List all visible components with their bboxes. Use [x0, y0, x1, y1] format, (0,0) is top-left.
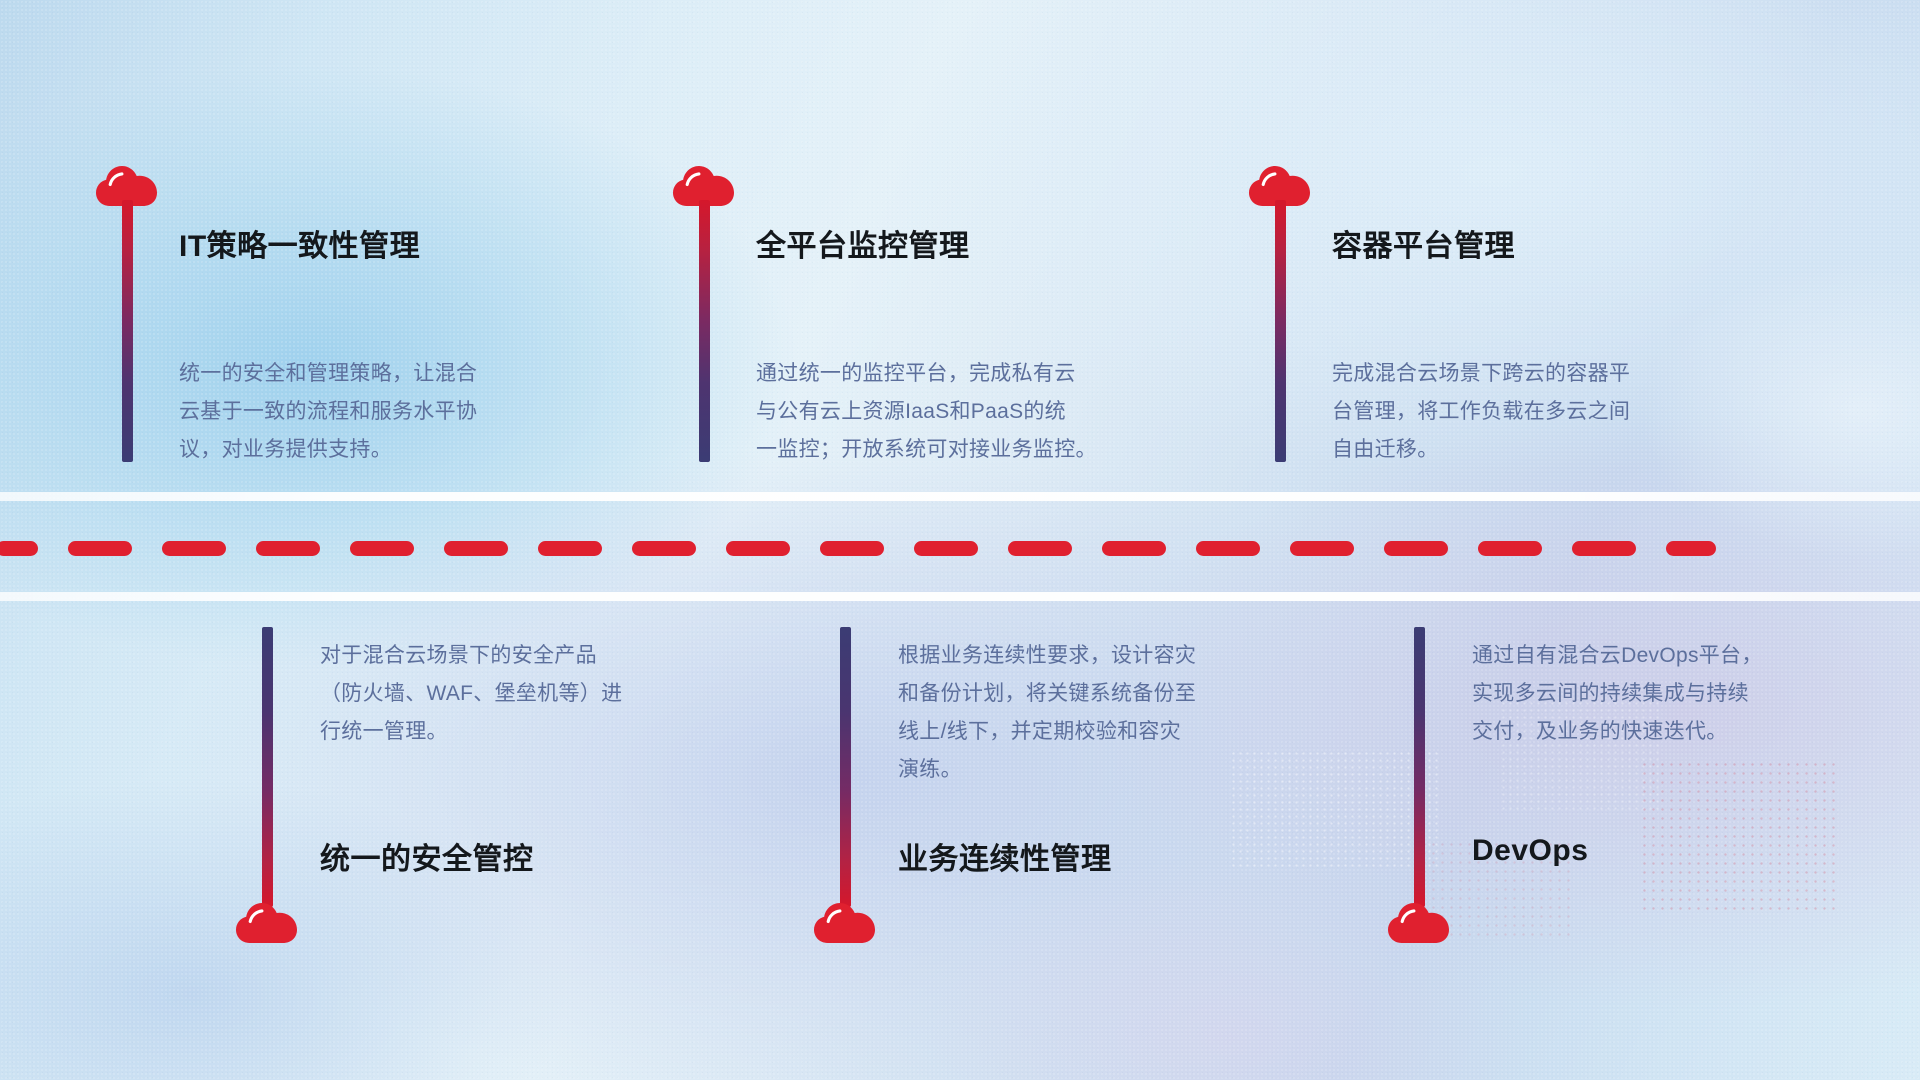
dash-segment	[444, 541, 508, 556]
pillar-title: IT策略一致性管理	[179, 221, 420, 265]
dash-segment	[726, 541, 790, 556]
desc-line: 完成混合云场景下跨云的容器平	[1332, 355, 1630, 393]
pillar-description: 对于混合云场景下的安全产品 （防火墙、WAF、堡垒机等）进 行统一管理。	[320, 637, 622, 751]
desc-line: 根据业务连续性要求，设计容灾	[898, 637, 1196, 675]
dash-segment	[1008, 541, 1072, 556]
pillar-title: 全平台监控管理	[756, 221, 970, 265]
timeline-stem	[1275, 200, 1286, 462]
pillar-description: 统一的安全和管理策略，让混合 云基于一致的流程和服务水平协 议，对业务提供支持。	[179, 355, 477, 469]
timeline-stem	[122, 200, 133, 462]
dash-segment	[1196, 541, 1260, 556]
desc-line: 云基于一致的流程和服务水平协	[179, 393, 477, 431]
desc-line: 与公有云上资源IaaS和PaaS的统	[756, 393, 1097, 431]
desc-line: 线上/线下，并定期校验和容灾	[898, 713, 1196, 751]
speckle-cluster-left	[1230, 750, 1440, 870]
dash-segment	[0, 541, 38, 556]
pillar-title: 业务连续性管理	[898, 834, 1112, 878]
pillar-title: DevOps	[1472, 834, 1588, 868]
desc-line: 通过统一的监控平台，完成私有云	[756, 355, 1097, 393]
cloud-icon	[813, 897, 879, 945]
dash-segment	[632, 541, 696, 556]
pillar-description: 通过统一的监控平台，完成私有云 与公有云上资源IaaS和PaaS的统 一监控；开…	[756, 355, 1097, 469]
desc-line: 议，对业务提供支持。	[179, 431, 477, 469]
cloud-icon	[235, 897, 301, 945]
desc-line: 对于混合云场景下的安全产品	[320, 637, 622, 675]
dash-segment	[162, 541, 226, 556]
desc-line: 通过自有混合云DevOps平台，	[1472, 637, 1763, 675]
divider-rule-top	[0, 492, 1920, 501]
dash-segment	[1666, 541, 1716, 556]
desc-line: （防火墙、WAF、堡垒机等）进	[320, 675, 622, 713]
dash-segment	[914, 541, 978, 556]
desc-line: 一监控；开放系统可对接业务监控。	[756, 431, 1097, 469]
dash-segment	[256, 541, 320, 556]
desc-line: 演练。	[898, 751, 1196, 789]
dash-segment	[68, 541, 132, 556]
desc-line: 实现多云间的持续集成与持续	[1472, 675, 1763, 713]
dash-segment	[1478, 541, 1542, 556]
desc-line: 自由迁移。	[1332, 431, 1630, 469]
desc-line: 行统一管理。	[320, 713, 622, 751]
infographic-canvas: IT策略一致性管理 统一的安全和管理策略，让混合 云基于一致的流程和服务水平协 …	[0, 0, 1920, 1080]
cloud-icon	[1387, 897, 1453, 945]
pillar-title: 统一的安全管控	[320, 834, 534, 878]
desc-line: 统一的安全和管理策略，让混合	[179, 355, 477, 393]
pillar-title: 容器平台管理	[1332, 221, 1515, 265]
desc-line: 台管理，将工作负载在多云之间	[1332, 393, 1630, 431]
divider-dashed-line	[0, 540, 1920, 556]
dash-segment	[1384, 541, 1448, 556]
divider-rule-bottom	[0, 592, 1920, 601]
pillar-description: 根据业务连续性要求，设计容灾 和备份计划，将关键系统备份至 线上/线下，并定期校…	[898, 637, 1196, 789]
pillar-description: 完成混合云场景下跨云的容器平 台管理，将工作负载在多云之间 自由迁移。	[1332, 355, 1630, 469]
desc-line: 和备份计划，将关键系统备份至	[898, 675, 1196, 713]
timeline-stem	[699, 200, 710, 462]
pillar-description: 通过自有混合云DevOps平台， 实现多云间的持续集成与持续 交付，及业务的快速…	[1472, 637, 1763, 751]
desc-line: 交付，及业务的快速迭代。	[1472, 713, 1763, 751]
dash-segment	[350, 541, 414, 556]
timeline-stem	[1414, 627, 1425, 907]
speckle-cluster-red	[1640, 760, 1840, 910]
dash-segment	[1102, 541, 1166, 556]
timeline-stem	[840, 627, 851, 907]
dash-segment	[538, 541, 602, 556]
dash-segment	[1290, 541, 1354, 556]
dash-segment	[820, 541, 884, 556]
dash-segment	[1572, 541, 1636, 556]
timeline-stem	[262, 627, 273, 907]
